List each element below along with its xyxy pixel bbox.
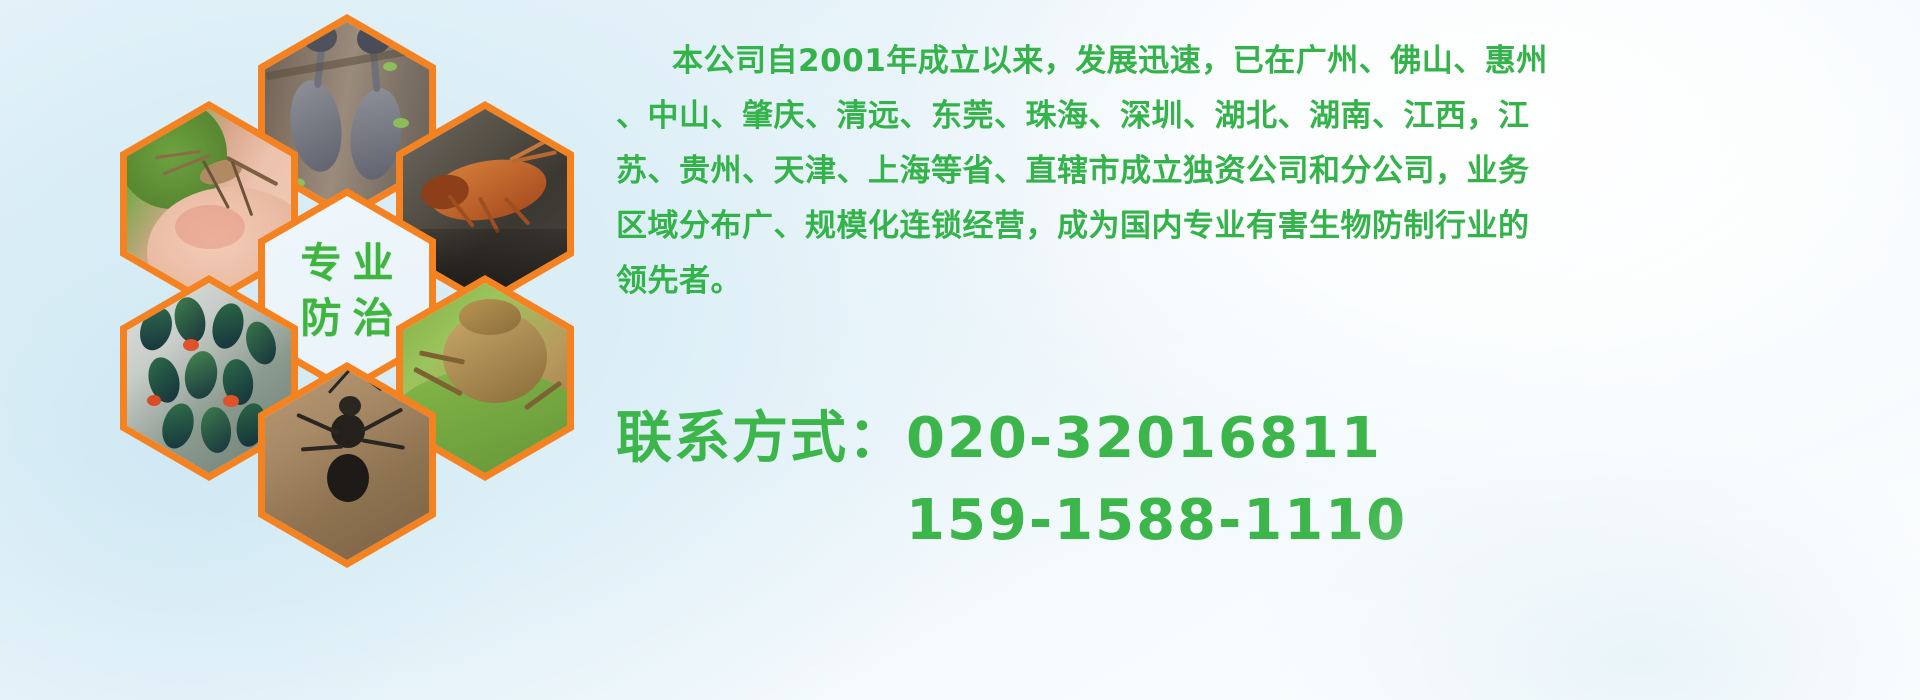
intro-line-2: 、中山、肇庆、清远、东莞、珠海、深圳、湖北、湖南、江西，江 [616,89,1884,144]
honeycomb-cluster: 专业 防治 [86,14,586,574]
intro-line-5: 领先者。 [616,254,1884,309]
comb-word-line1: 专业 [290,236,405,291]
intro-line-3: 苏、贵州、天津、上海等省、直辖市成立独资公司和分公司，业务 [616,144,1884,199]
comb-word-line2: 防治 [290,291,405,346]
company-intro-paragraph: 本公司自2001年成立以来，发展迅速，已在广州、佛山、惠州 、中山、肇庆、清远、… [616,34,1884,309]
contact-mobile[interactable]: 159-1588-1110 [616,480,1884,562]
hex-image-ant [265,370,429,560]
intro-line-4: 区域分布广、规模化连锁经营，成为国内专业有害生物防制行业的 [616,199,1884,254]
intro-line-1: 本公司自2001年成立以来，发展迅速，已在广州、佛山、惠州 [616,34,1884,89]
contact-landline[interactable]: 联系方式：020-32016811 [616,398,1884,480]
promo-banner: 专业 防治 [0,0,1920,700]
ant-photo-art [265,370,429,560]
contact-block: 联系方式：020-32016811 159-1588-1110 [616,398,1884,562]
